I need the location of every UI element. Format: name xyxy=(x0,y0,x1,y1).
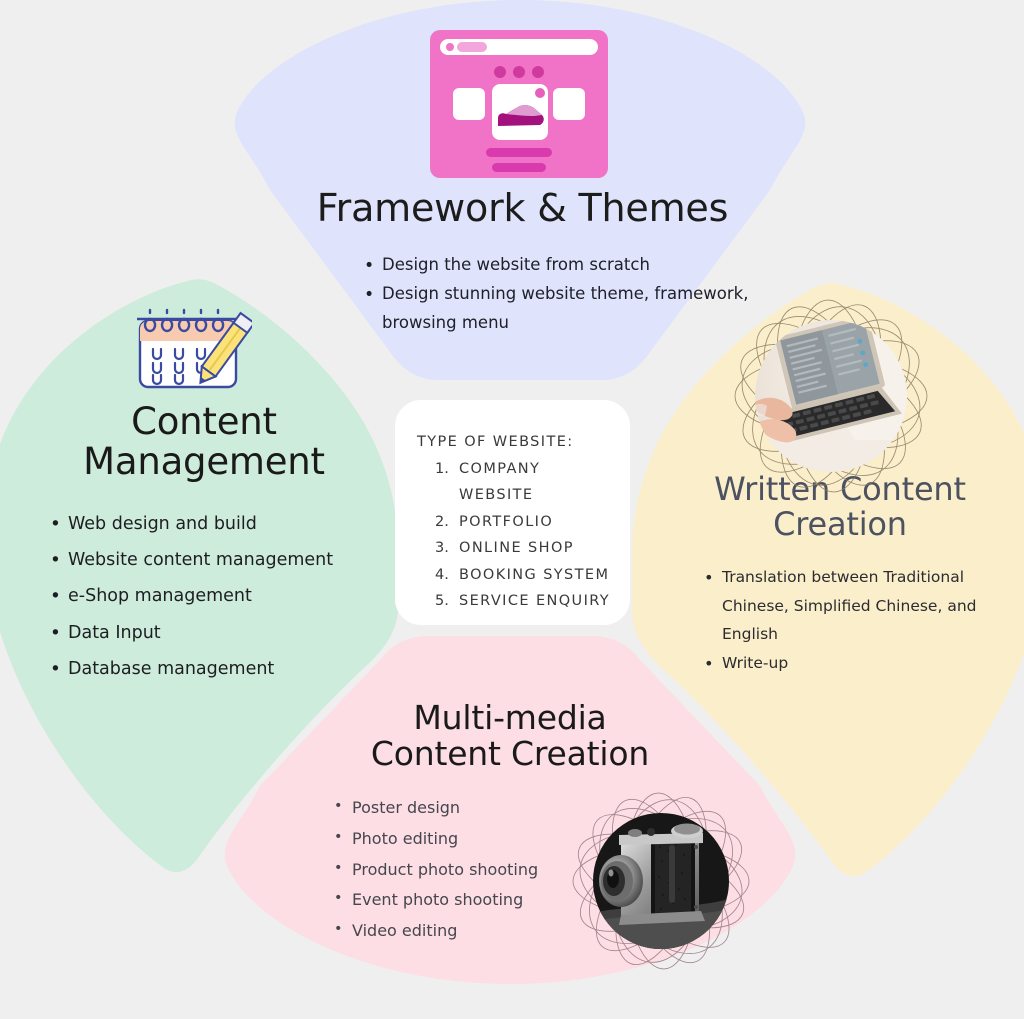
list-item-line-1: ONLINE SHOP xyxy=(459,540,574,556)
list-item: BOOKING SYSTEM xyxy=(435,562,630,588)
content-management-title: Content Management xyxy=(14,402,394,482)
list-item-line-2: WEBSITE xyxy=(459,482,630,508)
list-item: e-Shop management xyxy=(48,578,398,614)
calendar-pencil-illustration xyxy=(124,305,252,397)
vintage-camera-photo xyxy=(565,785,757,977)
title-line-2: Management xyxy=(83,440,325,483)
framework-themes-title: Framework & Themes xyxy=(250,188,795,229)
content-management-bullet-list: Web design and build Website content man… xyxy=(48,506,398,687)
title-line-1: Multi-media xyxy=(413,698,606,737)
list-item: Web design and build xyxy=(48,506,398,542)
framework-themes-bullet-list: Design the website from scratch Design s… xyxy=(362,251,782,338)
list-item: Write-up xyxy=(702,649,1017,678)
written-content-section: Written Content Creation Translation bet… xyxy=(660,472,1020,678)
list-item: COMPANY WEBSITE xyxy=(435,456,630,509)
content-management-section: Content Management Web design and build … xyxy=(14,402,394,687)
list-item: Database management xyxy=(48,651,398,687)
type-of-website-card: TYPE OF WEBSITE: COMPANY WEBSITE PORTFOL… xyxy=(395,400,630,625)
framework-themes-section: Framework & Themes Design the website fr… xyxy=(250,188,795,338)
laptop-typing-photo xyxy=(725,290,937,502)
list-item: Website content management xyxy=(48,542,398,578)
list-item-line-1: BOOKING SYSTEM xyxy=(459,567,609,583)
title-line-1: Content xyxy=(131,400,277,443)
infographic-canvas: Framework & Themes Design the website fr… xyxy=(0,0,1024,1019)
list-item: Data Input xyxy=(48,615,398,651)
written-content-bullet-list: Translation between Traditional Chinese,… xyxy=(702,563,1017,678)
card-heading: TYPE OF WEBSITE: xyxy=(417,434,630,450)
title-line-2: Creation xyxy=(773,505,907,543)
website-type-list: COMPANY WEBSITE PORTFOLIO ONLINE SHOP BO… xyxy=(417,456,630,614)
title-line-2: Content Creation xyxy=(371,734,649,773)
list-item: ONLINE SHOP xyxy=(435,535,630,561)
list-item: Design the website from scratch xyxy=(362,251,782,280)
list-item: Design stunning website theme, framework… xyxy=(362,280,782,338)
list-item: SERVICE ENQUIRY xyxy=(435,588,630,614)
list-item-line-1: SERVICE ENQUIRY xyxy=(459,593,610,609)
list-item: Translation between Traditional Chinese,… xyxy=(702,563,1017,649)
multimedia-title: Multi-media Content Creation xyxy=(300,700,720,771)
website-shop-browser-illustration xyxy=(430,30,608,178)
list-item-line-1: COMPANY xyxy=(459,461,540,477)
list-item-line-1: PORTFOLIO xyxy=(459,514,553,530)
list-item: PORTFOLIO xyxy=(435,509,630,535)
